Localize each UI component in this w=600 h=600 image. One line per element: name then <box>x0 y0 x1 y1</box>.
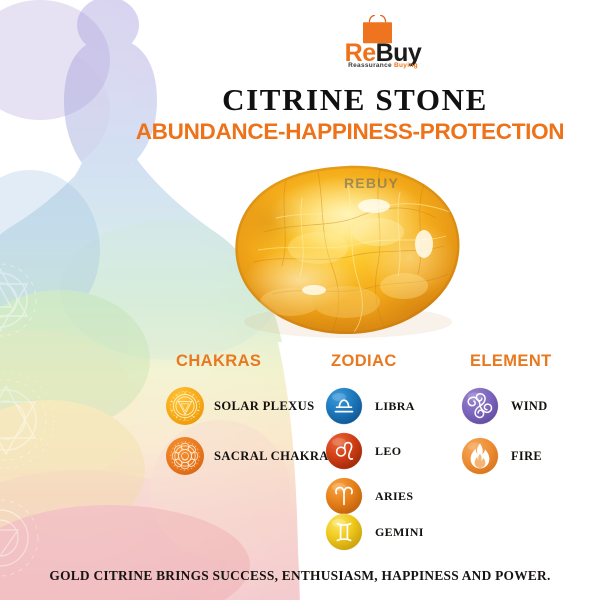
list-item-label: LIBRA <box>375 399 415 414</box>
list-item-label: GEMINI <box>375 525 424 540</box>
aries-zodiac-icon <box>325 477 363 515</box>
footer-tagline: GOLD CITRINE BRINGS SUCCESS, ENTHUSIASM,… <box>0 568 600 584</box>
column-header-element: ELEMENT <box>470 352 552 371</box>
sacral-chakra-icon <box>166 437 204 475</box>
libra-zodiac-icon <box>325 387 363 425</box>
wind-triskelion-icon <box>461 387 499 425</box>
list-item-fire[interactable]: FIRE <box>461 436 542 476</box>
list-item-libra[interactable]: LIBRA <box>325 386 415 426</box>
citrine-stone-image: REBUY <box>228 162 466 338</box>
fire-flame-icon <box>461 437 499 475</box>
list-item-label: WIND <box>511 399 548 414</box>
column-header-zodiac: ZODIAC <box>331 352 397 371</box>
list-item-solar-plexus[interactable]: SOLAR PLEXUS <box>166 386 314 426</box>
list-item-wind[interactable]: WIND <box>461 386 548 426</box>
list-item-label: LEO <box>375 444 401 459</box>
list-item-leo[interactable]: LEO <box>325 431 401 471</box>
gemini-zodiac-icon <box>325 513 363 551</box>
list-item-label: SACRAL CHAKRA <box>214 449 329 464</box>
column-header-chakras: CHAKRAS <box>176 352 261 371</box>
rebuy-logo[interactable]: ReBuy Reassurance Buying <box>330 14 436 70</box>
list-item-gemini[interactable]: GEMINI <box>325 512 424 552</box>
page-subtitle: ABUNDANCE-HAPPINESS-PROTECTION <box>110 119 590 145</box>
list-item-sacral-chakra[interactable]: SACRAL CHAKRA <box>166 436 329 476</box>
list-item-label: SOLAR PLEXUS <box>214 399 314 414</box>
logo-tagline: Reassurance Buying <box>330 62 436 69</box>
logo-tagline-part2: Buying <box>394 62 418 69</box>
solar-plexus-chakra-icon <box>166 387 204 425</box>
list-item-label: FIRE <box>511 449 542 464</box>
leo-zodiac-icon <box>325 432 363 470</box>
list-item-label: ARIES <box>375 489 413 504</box>
infographic-canvas: ReBuy Reassurance Buying CITRINE STONE A… <box>0 0 600 600</box>
page-title: CITRINE STONE <box>120 82 590 118</box>
citrine-stone-graphic <box>228 162 466 338</box>
list-item-aries[interactable]: ARIES <box>325 476 413 516</box>
logo-tagline-part1: Reassurance <box>348 62 392 69</box>
